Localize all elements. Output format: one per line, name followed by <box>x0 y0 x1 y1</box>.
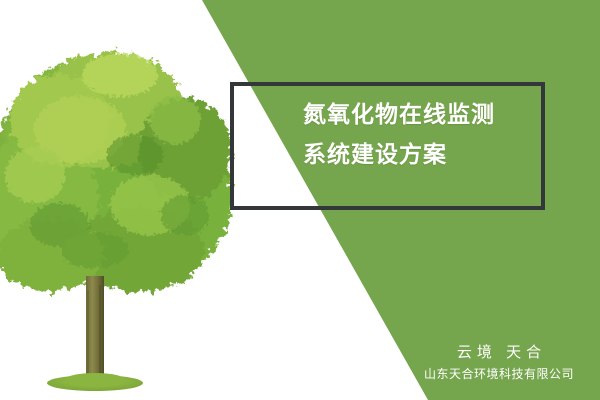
brand-block: 云境 天合 山东天合环境科技有限公司 <box>424 342 574 384</box>
title-line-1: 氮氧化物在线监测 <box>303 94 553 134</box>
brand-company-name: 山东天合环境科技有限公司 <box>424 364 574 384</box>
page-title: 氮氧化物在线监测 系统建设方案 <box>303 94 553 174</box>
tree-icon <box>0 0 260 400</box>
title-line-2: 系统建设方案 <box>303 134 553 174</box>
title-slide: 氮氧化物在线监测 系统建设方案 云境 天合 山东天合环境科技有限公司 <box>0 0 600 400</box>
brand-name: 云境 天合 <box>424 342 574 364</box>
